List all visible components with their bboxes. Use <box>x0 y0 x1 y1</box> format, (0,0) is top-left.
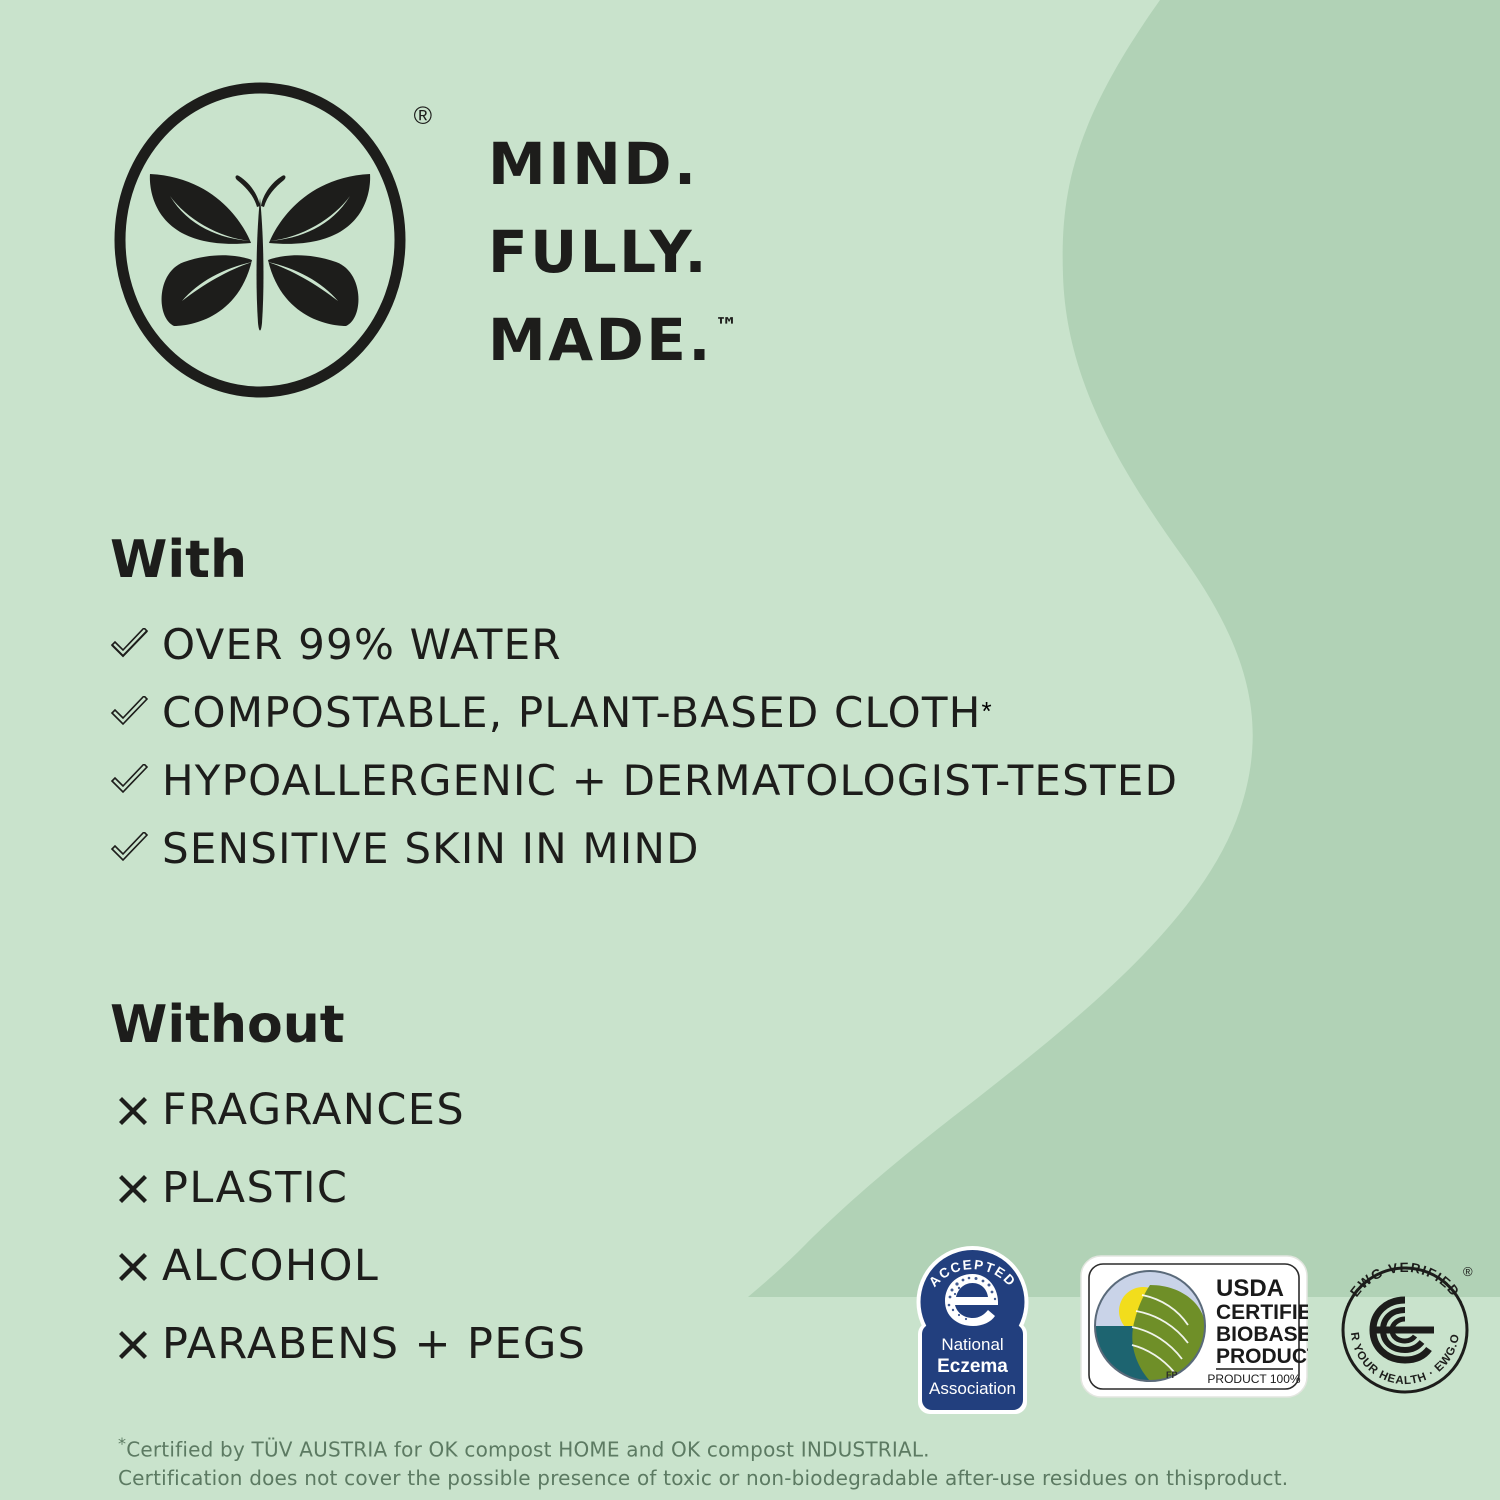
ewg-e-mark <box>1373 1300 1434 1360</box>
nea-line-3: Association <box>929 1379 1016 1398</box>
list-item-label: FRAGRANCES <box>162 1089 465 1132</box>
footnote-line-1-text: Certified by TÜV AUSTRIA for OK compost … <box>126 1438 930 1462</box>
without-section-title: Without <box>110 995 586 1055</box>
cross-icon <box>110 1172 162 1206</box>
check-icon <box>110 628 162 662</box>
list-item: PLASTIC <box>110 1167 586 1210</box>
nea-line-2: Eczema <box>937 1356 1008 1377</box>
list-item-label: PARABENS + PEGS <box>162 1323 586 1366</box>
list-item: COMPOSTABLE, PLANT-BASED CLOTH * <box>110 692 1178 734</box>
usda-line-2: CERTIFIED <box>1216 1301 1308 1324</box>
without-section: Without FRAGRANCES PLASTIC <box>110 995 586 1401</box>
list-item-footnote-ref: * <box>982 696 992 727</box>
with-section: With OVER 99% WATER COMPOSTA <box>110 530 1178 870</box>
cross-icon <box>110 1250 162 1284</box>
national-eczema-association-badge: ACCEPTED National Eczema <box>905 1244 1040 1424</box>
list-item: SENSITIVE SKIN IN MIND <box>110 828 1178 870</box>
footnote-line-1: *Certified by TÜV AUSTRIA for OK compost… <box>118 1433 1288 1464</box>
list-item-label: PLASTIC <box>162 1167 348 1210</box>
butterfly-glyph <box>150 174 370 331</box>
wordmark-line-3: MADE.™ <box>488 296 736 384</box>
trademark-icon: ™ <box>715 314 738 340</box>
list-item: FRAGRANCES <box>110 1089 586 1132</box>
usda-line-3: BIOBASED <box>1216 1323 1308 1346</box>
wordmark: MIND. FULLY. MADE.™ <box>488 120 736 384</box>
wordmark-line-3-text: MADE. <box>488 306 713 374</box>
with-section-title: With <box>110 530 1178 590</box>
nea-line-1: National <box>941 1335 1003 1354</box>
list-item: HYPOALLERGENIC + DERMATOLOGIST-TESTED <box>110 760 1178 802</box>
footnote: *Certified by TÜV AUSTRIA for OK compost… <box>118 1433 1288 1492</box>
certification-badges: ACCEPTED National Eczema <box>905 1240 1480 1415</box>
butterfly-in-circle-icon: ® <box>108 78 418 413</box>
without-feature-list: FRAGRANCES PLASTIC ALCOHOL <box>110 1089 586 1366</box>
footnote-line-2: Certification does not cover the possibl… <box>118 1464 1288 1492</box>
nea-e-mark <box>945 1274 998 1326</box>
list-item: OVER 99% WATER <box>110 624 1178 666</box>
list-item-label: HYPOALLERGENIC + DERMATOLOGIST-TESTED <box>162 760 1178 802</box>
usda-landscape-emblem: FP <box>1095 1271 1205 1381</box>
list-item: PARABENS + PEGS <box>110 1323 586 1366</box>
cross-icon <box>110 1328 162 1362</box>
usda-certified-biobased-product-badge: FP USDA CERTIFIED BIOBASED PRODUCT PRODU… <box>1080 1255 1308 1403</box>
with-feature-list: OVER 99% WATER COMPOSTABLE, PLANT-BASED … <box>110 624 1178 870</box>
list-item-label: ALCOHOL <box>162 1245 379 1288</box>
brand-lockup: ® MIND. FULLY. MADE.™ <box>108 78 736 413</box>
list-item: ALCOHOL <box>110 1245 586 1288</box>
wordmark-line-2: FULLY. <box>488 208 736 296</box>
ewg-registered-mark: ® <box>1463 1264 1473 1279</box>
check-icon <box>110 696 162 730</box>
ewg-verified-badge: · EWG VERIFIED · · FOR YOUR HEALTH · EWG… <box>1330 1252 1480 1407</box>
footnote-star: * <box>118 1434 126 1453</box>
check-icon <box>110 764 162 798</box>
usda-line-5: PRODUCT 100% <box>1207 1372 1300 1386</box>
registered-trademark-icon: ® <box>414 104 432 129</box>
usda-corner-mark: FP <box>1166 1370 1178 1380</box>
check-icon <box>110 832 162 866</box>
cross-icon <box>110 1094 162 1128</box>
list-item-label: OVER 99% WATER <box>162 624 562 666</box>
usda-line-4: PRODUCT <box>1216 1345 1308 1368</box>
wordmark-line-1: MIND. <box>488 120 736 208</box>
usda-line-1: USDA <box>1216 1275 1284 1302</box>
list-item-label: COMPOSTABLE, PLANT-BASED CLOTH <box>162 692 982 734</box>
list-item-label: SENSITIVE SKIN IN MIND <box>162 828 700 870</box>
